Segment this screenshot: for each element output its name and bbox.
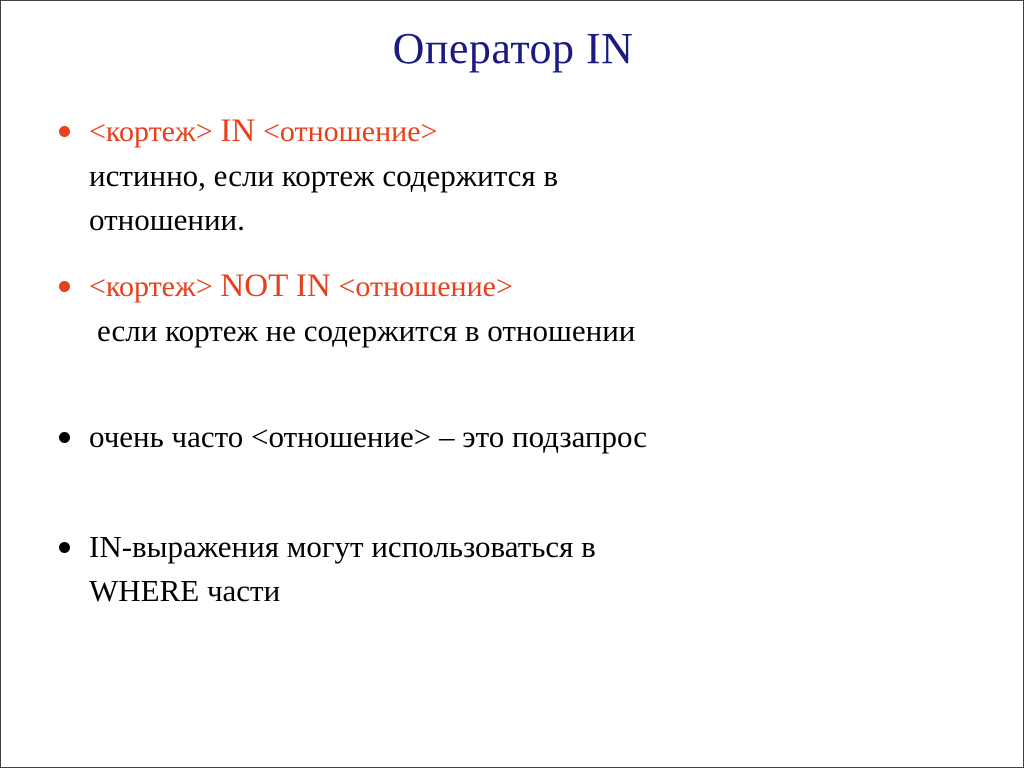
keyword-in: IN [220, 113, 255, 149]
list-item[interactable]: <кортеж> NOT IN <отношение> если кортеж … [49, 264, 1001, 353]
placeholder-relation: <отношение> [338, 270, 512, 303]
description-line: WHERE части [89, 569, 1001, 613]
presentation-slide: Оператор IN <кортеж> IN <отношение> исти… [0, 0, 1024, 768]
bullet-dot-icon [49, 109, 89, 157]
list-item[interactable]: IN-выражения могут использоваться в WHER… [49, 525, 1001, 613]
placeholder-tuple: <кортеж> [89, 270, 213, 303]
description-line: истинно, если кортеж содержится в [89, 154, 1001, 198]
syntax-line: <кортеж> NOT IN <отношение> [89, 264, 1001, 309]
placeholder-tuple: <кортеж> [89, 115, 213, 148]
list-item-text: IN-выражения могут использоваться в WHER… [89, 525, 1001, 613]
description-line: IN-выражения могут использоваться в [89, 525, 1001, 569]
keyword-not-in: NOT IN [220, 268, 330, 304]
bullet-dot-icon [49, 264, 89, 312]
syntax-line: <кортеж> IN <отношение> [89, 109, 1001, 154]
description-line: очень часто <отношение> – это подзапрос [89, 415, 1001, 459]
bullet-dot-icon [49, 415, 89, 463]
list-item[interactable]: <кортеж> IN <отношение> истинно, если ко… [49, 109, 1001, 242]
bullet-dot-icon [49, 525, 89, 573]
list-item[interactable]: очень часто <отношение> – это подзапрос [49, 415, 1001, 463]
list-item-text: <кортеж> IN <отношение> истинно, если ко… [89, 109, 1001, 242]
description-line: если кортеж не содержится в отношении [89, 309, 1001, 353]
slide-content-body: <кортеж> IN <отношение> истинно, если ко… [49, 109, 1001, 613]
list-item-text: <кортеж> NOT IN <отношение> если кортеж … [89, 264, 1001, 353]
placeholder-relation: <отношение> [263, 115, 437, 148]
page-title: Оператор IN [1, 23, 1024, 75]
description-line: отношении. [89, 198, 1001, 242]
list-item-text: очень часто <отношение> – это подзапрос [89, 415, 1001, 459]
